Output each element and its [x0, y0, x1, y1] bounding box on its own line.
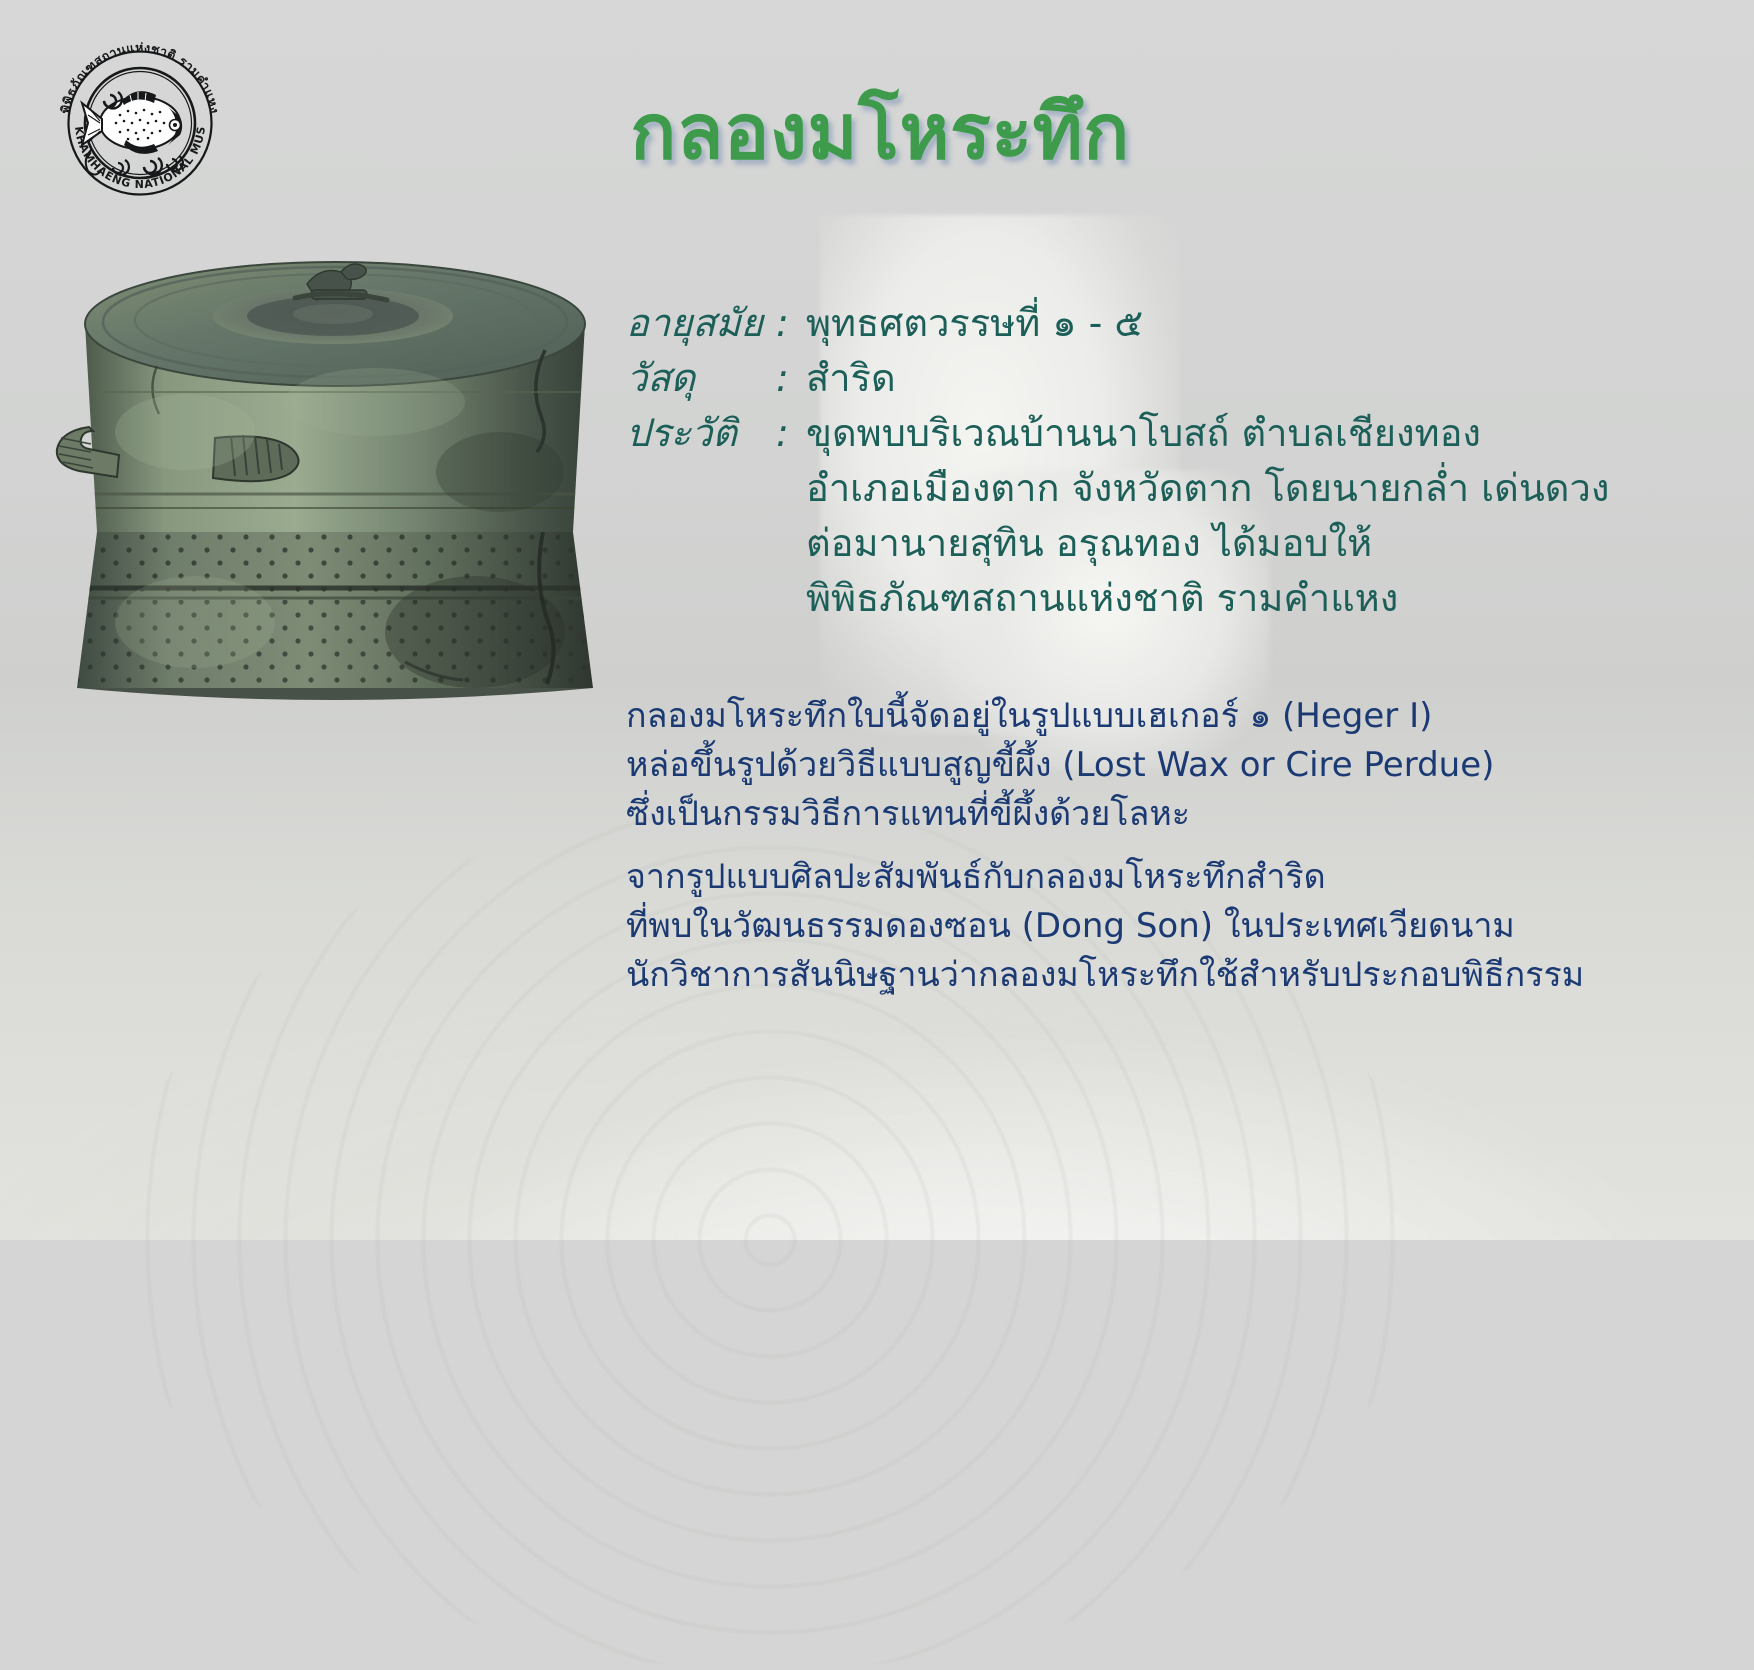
- info-label-age: อายุสมัย: [626, 296, 776, 351]
- info-row-material: วัสดุ : สำริด: [626, 351, 1686, 406]
- info-label-material: วัสดุ: [626, 351, 776, 406]
- info-label-history: ประวัติ: [626, 406, 776, 461]
- info-row-history: ประวัติ : ขุดพบบริเวณบ้านนาโบสถ์ ตำบลเชี…: [626, 406, 1686, 461]
- info-colon-age: :: [776, 296, 806, 351]
- artifact-info-block: อายุสมัย : พุทธศตวรรษที่ ๑ - ๕ วัสดุ : ส…: [626, 296, 1686, 626]
- info-history-line-3: ต่อมานายสุทิน อรุณทอง ได้มอบให้: [806, 516, 1686, 571]
- description-line-2: หล่อขึ้นรูปด้วยวิธีแบบสูญขี้ผึ้ง (Lost W…: [626, 741, 1706, 790]
- museum-seal-logo: พิพิธภัณฑสถานแห่งชาติ รามคำแหง RAMKHAMHA…: [45, 28, 235, 218]
- paragraph-spacer: [626, 839, 1706, 853]
- description-line-3: ซึ่งเป็นกรรมวิธีการแทนที่ขี้ผึ้งด้วยโลหะ: [626, 790, 1706, 839]
- artifact-photo: [45, 232, 625, 702]
- info-value-age: พุทธศตวรรษที่ ๑ - ๕: [806, 296, 1143, 351]
- info-row-age: อายุสมัย : พุทธศตวรรษที่ ๑ - ๕: [626, 296, 1686, 351]
- description-line-5: ที่พบในวัฒนธรรมดองซอน (Dong Son) ในประเท…: [626, 902, 1706, 951]
- info-history-line-4: พิพิธภัณฑสถานแห่งชาติ รามคำแหง: [806, 571, 1686, 626]
- page-title: กลองมโหระทึก: [430, 86, 1330, 179]
- info-value-history: ขุดพบบริเวณบ้านนาโบสถ์ ตำบลเชียงทอง: [806, 406, 1481, 461]
- info-colon-history: :: [776, 406, 806, 461]
- info-value-material: สำริด: [806, 351, 896, 406]
- description-line-1: กลองมโหระทึกใบนี้จัดอยู่ในรูปแบบเฮเกอร์ …: [626, 692, 1706, 741]
- description-line-4: จากรูปแบบศิลปะสัมพันธ์กับกลองมโหระทึกสำร…: [626, 853, 1706, 902]
- description-paragraph: กลองมโหระทึกใบนี้จัดอยู่ในรูปแบบเฮเกอร์ …: [626, 692, 1706, 1000]
- info-history-line-2: อำเภอเมืองตาก จังหวัดตาก โดยนายกล่ำ เด่น…: [806, 461, 1686, 516]
- description-line-6: นักวิชาการสันนิษฐานว่ากลองมโหระทึกใช้สำห…: [626, 951, 1706, 1000]
- info-colon-material: :: [776, 351, 806, 406]
